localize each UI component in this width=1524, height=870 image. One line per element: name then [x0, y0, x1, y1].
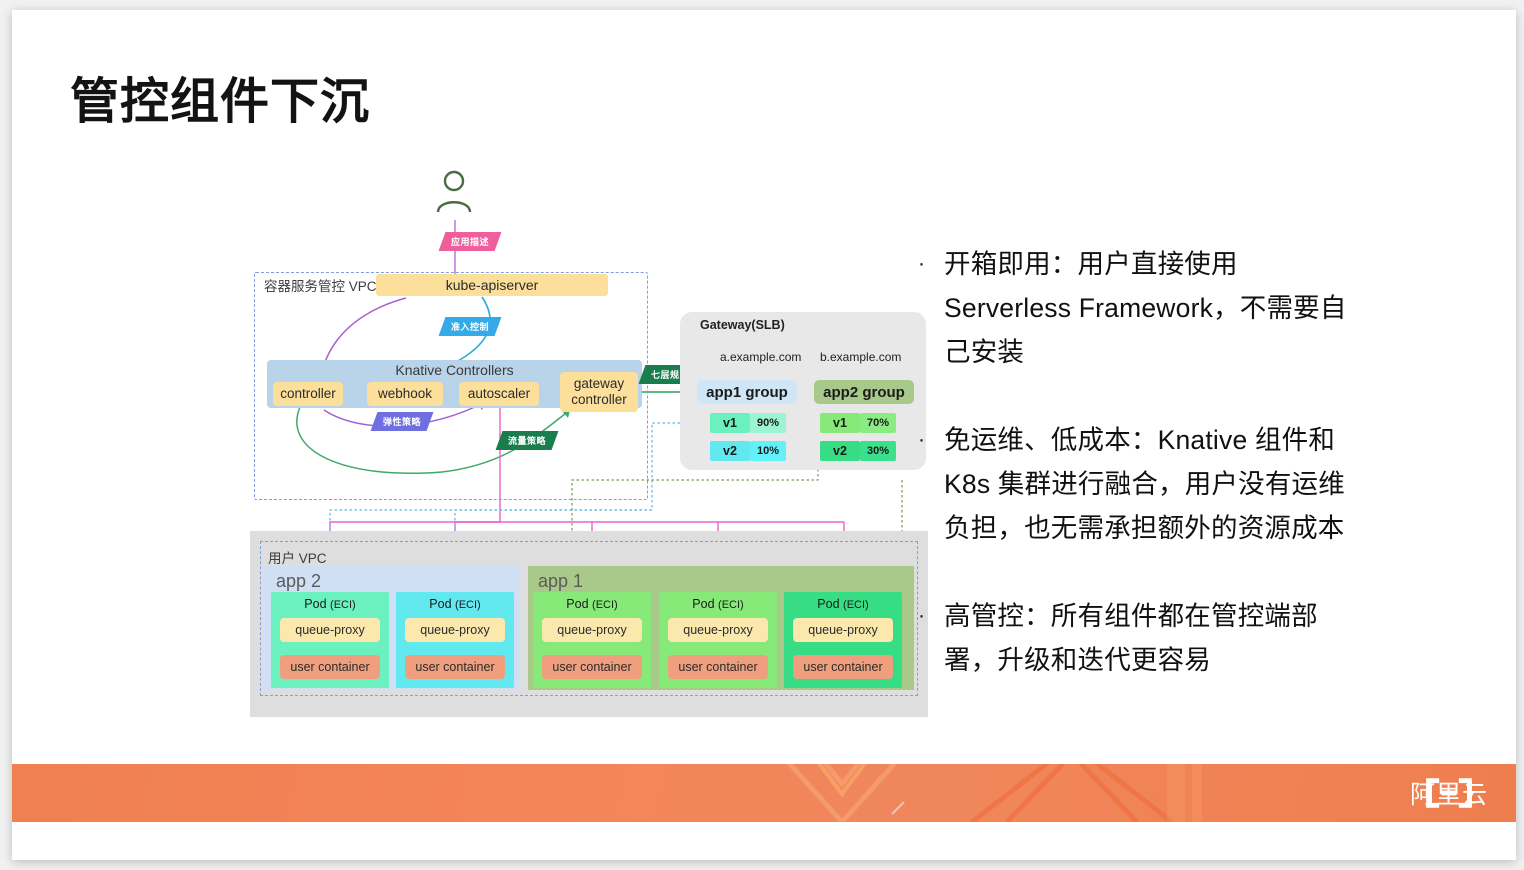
flow-tag-app-desc-label: 应用描述 [451, 235, 489, 248]
user-container-box: user container [542, 655, 642, 679]
bullet-item-2: · 免运维、低成本：Knative 组件和 K8s 集群进行融合，用户没有运维负… [918, 418, 1368, 550]
gateway-slb-title: Gateway(SLB) [700, 318, 785, 332]
flow-tag-traffic: 流量策略 [496, 431, 559, 450]
mgmt-vpc-label: 容器服务管控 VPC [264, 275, 377, 295]
bullet-text: 免运维、低成本：Knative 组件和 K8s 集群进行融合，用户没有运维负担，… [944, 418, 1368, 550]
bullet-item-1: · 开箱即用：用户直接使用 Serverless Framework，不需要自己… [918, 242, 1368, 374]
app1-zone-label: app 1 [538, 571, 583, 592]
alibaba-cloud-bracket-icon [1410, 775, 1488, 811]
flow-tag-traffic-label: 流量策略 [508, 434, 546, 447]
pod-subtitle-text: (ECI) [455, 599, 481, 611]
user-container-box: user container [668, 655, 768, 679]
autoscaler-node: autoscaler [459, 382, 539, 406]
pod-title: Pod (ECI) [533, 597, 651, 611]
user-vpc-label: 用户 VPC [268, 547, 327, 567]
flow-tag-elastic-label: 弹性策略 [383, 415, 421, 428]
flow-tag-admission: 准入控制 [439, 317, 502, 336]
pod-subtitle-text: (ECI) [592, 599, 618, 611]
user-container-box: user container [793, 655, 893, 679]
gateway-controller-node: gateway controller [560, 372, 638, 412]
user-container-box: user container [280, 655, 380, 679]
app2-v2-weight: 30% [860, 441, 896, 461]
app2-v1-version: v1 [820, 413, 860, 433]
app1-v2-weight: 10% [750, 441, 786, 461]
pod-title: Pod (ECI) [784, 597, 902, 611]
queue-proxy-box: queue-proxy [542, 618, 642, 642]
footer-chevron-decoration [12, 764, 1516, 822]
bullet-list: · 开箱即用：用户直接使用 Serverless Framework，不需要自己… [918, 242, 1368, 726]
queue-proxy-box: queue-proxy [793, 618, 893, 642]
slide-canvas: 管控组件下沉 [12, 10, 1516, 860]
pod-title-text: Pod [817, 597, 839, 611]
app2-group-node: app2 group [814, 380, 914, 404]
flow-tag-app-desc: 应用描述 [439, 232, 502, 251]
bullet-marker: · [918, 418, 944, 550]
pod-eci-2: Pod (ECI) queue-proxy user container [396, 592, 514, 688]
pod-title: Pod (ECI) [396, 597, 514, 611]
footer-band: 阿里云 [12, 764, 1516, 822]
pod-subtitle-text: (ECI) [843, 599, 869, 611]
pod-title-text: Pod [304, 597, 326, 611]
webhook-node: webhook [367, 382, 443, 406]
controller-node: controller [273, 382, 343, 406]
pod-title-text: Pod [566, 597, 588, 611]
domain-b-label: b.example.com [820, 350, 901, 364]
pod-subtitle-text: (ECI) [330, 599, 356, 611]
pod-eci-3: Pod (ECI) queue-proxy user container [533, 592, 651, 688]
pod-title-text: Pod [692, 597, 714, 611]
architecture-diagram: 容器服务管控 VPC kube-apiserver Knative Contro… [12, 10, 952, 800]
user-container-box: user container [405, 655, 505, 679]
kube-apiserver-node: kube-apiserver [376, 274, 608, 296]
bullet-marker: · [918, 242, 944, 374]
bullet-marker: · [918, 594, 944, 682]
alibaba-cloud-logo: 阿里云 [1410, 775, 1488, 811]
app1-group-node: app1 group [697, 380, 797, 404]
app2-zone-label: app 2 [276, 571, 321, 592]
queue-proxy-box: queue-proxy [668, 618, 768, 642]
app1-v1-version: v1 [710, 413, 750, 433]
pod-eci-5: Pod (ECI) queue-proxy user container [784, 592, 902, 688]
pod-title-text: Pod [429, 597, 451, 611]
bullet-text: 高管控：所有组件都在管控端部署，升级和迭代更容易 [944, 594, 1368, 682]
pod-title: Pod (ECI) [659, 597, 777, 611]
user-icon [430, 168, 478, 216]
pod-eci-1: Pod (ECI) queue-proxy user container [271, 592, 389, 688]
domain-a-label: a.example.com [720, 350, 801, 364]
bullet-text: 开箱即用：用户直接使用 Serverless Framework，不需要自己安装 [944, 242, 1368, 374]
flow-tag-elastic: 弹性策略 [371, 412, 434, 431]
queue-proxy-box: queue-proxy [405, 618, 505, 642]
pod-title: Pod (ECI) [271, 597, 389, 611]
app1-v2-version: v2 [710, 441, 750, 461]
app2-v2-version: v2 [820, 441, 860, 461]
app2-v1-weight: 70% [860, 413, 896, 433]
bullet-item-3: · 高管控：所有组件都在管控端部署，升级和迭代更容易 [918, 594, 1368, 682]
pod-subtitle-text: (ECI) [718, 599, 744, 611]
queue-proxy-box: queue-proxy [280, 618, 380, 642]
app1-v1-weight: 90% [750, 413, 786, 433]
pod-eci-4: Pod (ECI) queue-proxy user container [659, 592, 777, 688]
flow-tag-admission-label: 准入控制 [451, 320, 489, 333]
